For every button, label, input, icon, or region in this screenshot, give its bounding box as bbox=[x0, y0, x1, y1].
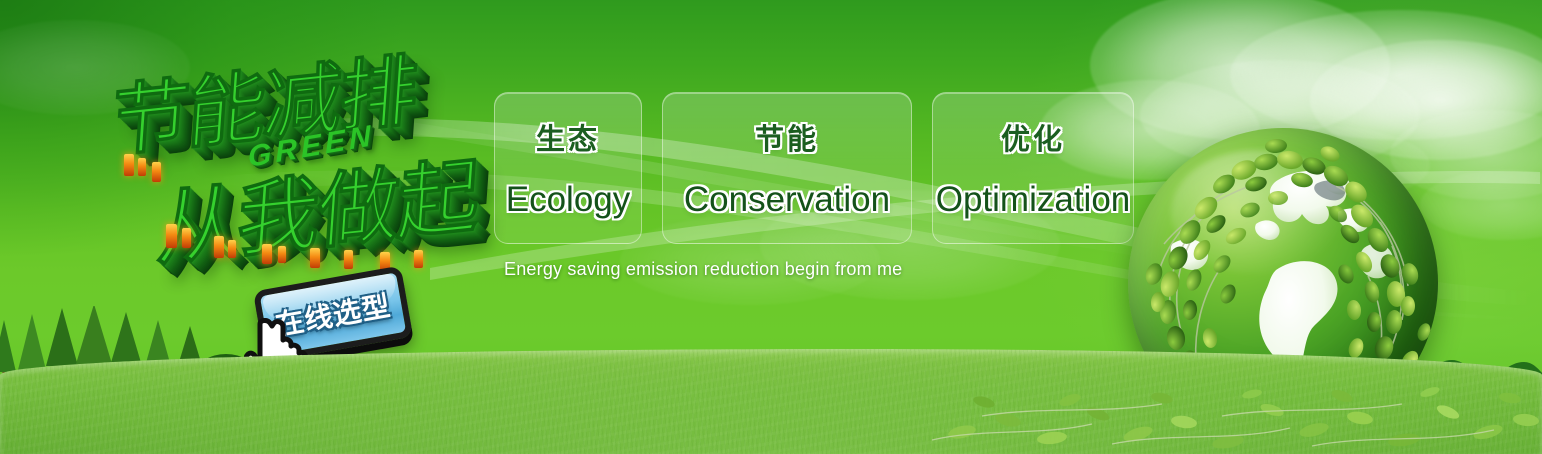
feature-card-conservation[interactable]: 节能 Conservation bbox=[662, 92, 912, 244]
feature-card-ecology[interactable]: 生态 Ecology bbox=[494, 92, 642, 244]
tagline: Energy saving emission reduction begin f… bbox=[504, 259, 902, 280]
feature-card-list: 生态 Ecology 节能 Conservation 优化 Optimizati… bbox=[494, 92, 1134, 244]
card-title-en: Conservation bbox=[684, 180, 890, 220]
card-title-cn: 节能 bbox=[755, 116, 819, 158]
green-energy-banner: 节能减排 GREEN 从我做起 在线选型 生态 Ecology bbox=[0, 0, 1542, 454]
feature-card-optimization[interactable]: 优化 Optimization bbox=[932, 92, 1134, 244]
card-title-en: Optimization bbox=[936, 180, 1131, 220]
card-title-cn: 生态 bbox=[536, 116, 600, 158]
grass-field-icon bbox=[0, 349, 1542, 454]
sky-left-shade bbox=[0, 0, 520, 330]
fallen-leaves-icon bbox=[922, 376, 1542, 454]
card-title-cn: 优化 bbox=[1001, 116, 1065, 158]
card-title-en: Ecology bbox=[506, 180, 631, 220]
